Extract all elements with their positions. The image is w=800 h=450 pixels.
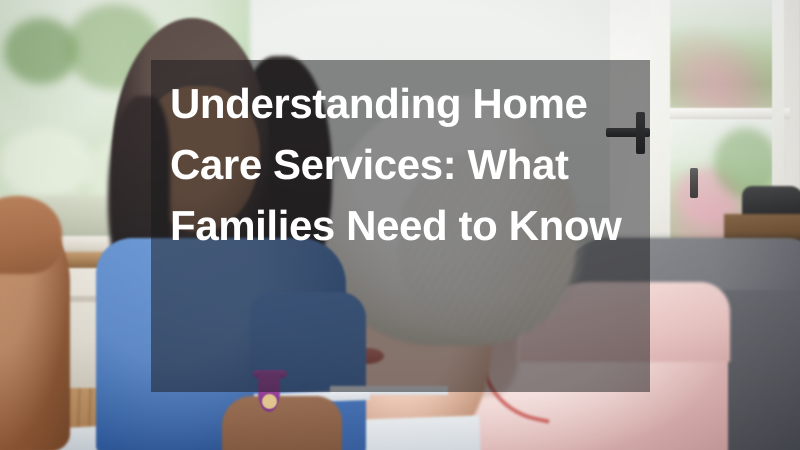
fob-watch-face	[262, 394, 277, 409]
door-mullion-horizontal	[660, 108, 790, 119]
foliage-blossom-a	[0, 128, 92, 198]
page-title: Understanding Home Care Services: What F…	[170, 73, 640, 256]
screenshot-root: Understanding Home Care Services: What F…	[0, 0, 800, 450]
door-glass-upper	[668, 0, 780, 110]
door-handle-escutcheon	[690, 168, 698, 198]
nurse-forearm	[222, 396, 342, 450]
